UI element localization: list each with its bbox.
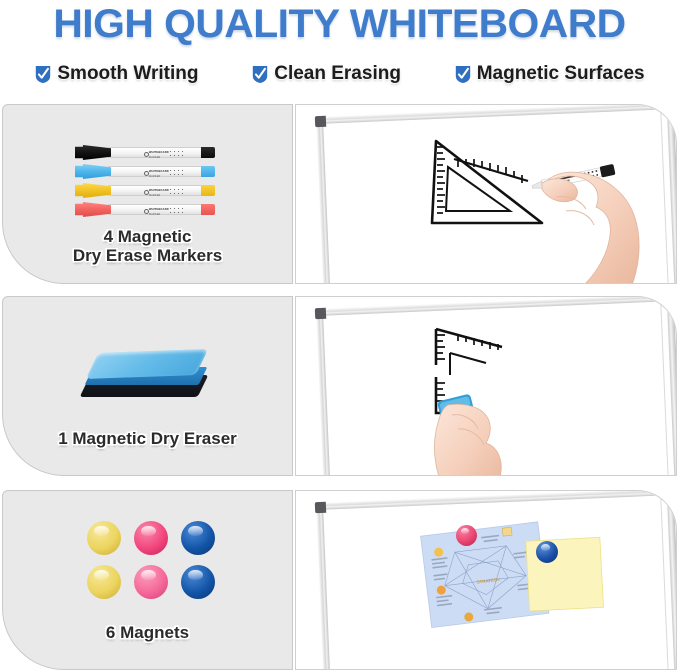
marker-cap bbox=[201, 185, 215, 196]
scene-panel-erasing bbox=[295, 296, 677, 476]
magnet-item bbox=[87, 521, 121, 555]
marker-item: WHITEBOARD MARKER bbox=[75, 145, 225, 160]
whiteboard-corner-bracket bbox=[315, 116, 326, 127]
marker-dots-icon bbox=[170, 189, 186, 197]
magnet-item bbox=[87, 565, 121, 599]
marker-group: WHITEBOARD MARKER WHITEBOARD MAR bbox=[75, 145, 225, 217]
check-shield-icon bbox=[34, 65, 52, 84]
caption-line-1: 6 Magnets bbox=[3, 623, 292, 642]
marker-sublabel: MARKER bbox=[149, 194, 160, 197]
whiteboard bbox=[296, 105, 677, 284]
marker-dots-icon bbox=[170, 170, 186, 178]
whiteboard-corner-bracket bbox=[315, 308, 326, 319]
marker-sublabel: MARKER bbox=[149, 175, 160, 178]
feature-row-magnets: 6 Magnets bbox=[0, 490, 679, 670]
page-title: HIGH QUALITY WHITEBOARD bbox=[0, 2, 679, 47]
marker-grip bbox=[75, 145, 111, 160]
magnet-item bbox=[181, 521, 215, 555]
marker-cap bbox=[201, 204, 215, 215]
marker-label: WHITEBOARD bbox=[149, 208, 169, 211]
magnet-on-board-pink bbox=[456, 525, 477, 546]
eraser-top bbox=[86, 349, 209, 379]
magnetic-eraser bbox=[79, 349, 211, 403]
marker-label: WHITEBOARD bbox=[149, 151, 169, 154]
feature-row-eraser: 1 Magnetic Dry Eraser bbox=[0, 296, 679, 476]
product-panel-markers: WHITEBOARD MARKER WHITEBOARD MAR bbox=[2, 104, 293, 284]
marker-dots-icon bbox=[170, 208, 186, 216]
feature-label: Clean Erasing bbox=[274, 63, 401, 85]
hand-holding-eraser bbox=[430, 403, 560, 476]
marker-sublabel: MARKER bbox=[149, 156, 160, 159]
hand-holding-marker bbox=[536, 167, 677, 284]
feature-item-magnetic-surfaces: Magnetic Surfaces bbox=[454, 63, 645, 85]
marker-cap bbox=[201, 147, 215, 158]
marker-label: WHITEBOARD bbox=[149, 189, 169, 192]
scene-panel-writing bbox=[295, 104, 677, 284]
magnet-item bbox=[134, 565, 168, 599]
caption-line-2: Dry Erase Markers bbox=[3, 246, 292, 265]
marker-dots-icon bbox=[170, 151, 186, 159]
marker-grip bbox=[75, 202, 111, 217]
check-shield-icon bbox=[251, 65, 269, 84]
magnet-group bbox=[87, 521, 215, 599]
marker-sublabel: MARKER bbox=[149, 213, 160, 216]
product-caption: 1 Magnetic Dry Eraser bbox=[3, 429, 292, 448]
marker-cap bbox=[201, 166, 215, 177]
magnet-on-board-blue bbox=[536, 541, 558, 563]
marker-item: WHITEBOARD MARKER bbox=[75, 183, 225, 198]
caption-line-1: 1 Magnetic Dry Eraser bbox=[3, 429, 292, 448]
product-caption: 6 Magnets bbox=[3, 623, 292, 642]
product-caption: 4 Magnetic Dry Erase Markers bbox=[3, 227, 292, 265]
marker-item: WHITEBOARD MARKER bbox=[75, 164, 225, 179]
marker-barrel: WHITEBOARD MARKER bbox=[108, 185, 203, 196]
product-panel-magnets: 6 Magnets bbox=[2, 490, 293, 670]
whiteboard: STRATEGY bbox=[296, 491, 677, 670]
feature-list: Smooth Writing Clean Erasing bbox=[0, 58, 679, 90]
feature-row-markers: WHITEBOARD MARKER WHITEBOARD MAR bbox=[0, 104, 679, 284]
marker-barrel: WHITEBOARD MARKER bbox=[108, 147, 203, 158]
product-panel-eraser: 1 Magnetic Dry Eraser bbox=[2, 296, 293, 476]
marker-barrel: WHITEBOARD MARKER bbox=[108, 166, 203, 177]
marker-barrel: WHITEBOARD MARKER bbox=[108, 204, 203, 215]
feature-label: Magnetic Surfaces bbox=[477, 63, 645, 85]
marker-label: WHITEBOARD bbox=[149, 170, 169, 173]
marker-grip bbox=[75, 164, 111, 179]
feature-label: Smooth Writing bbox=[57, 63, 198, 85]
product-feature-image: HIGH QUALITY WHITEBOARD Smooth Writing bbox=[0, 0, 679, 672]
feature-item-smooth-writing: Smooth Writing bbox=[34, 63, 198, 85]
whiteboard bbox=[296, 297, 677, 476]
caption-line-1: 4 Magnetic bbox=[3, 227, 292, 246]
header: HIGH QUALITY WHITEBOARD Smooth Writing bbox=[0, 0, 679, 96]
check-shield-icon bbox=[454, 65, 472, 84]
magnet-item bbox=[134, 521, 168, 555]
feature-item-clean-erasing: Clean Erasing bbox=[251, 63, 401, 85]
scene-panel-magnets: STRATEGY bbox=[295, 490, 677, 670]
magnet-item bbox=[181, 565, 215, 599]
marker-item: WHITEBOARD MARKER bbox=[75, 202, 225, 217]
whiteboard-corner-bracket bbox=[315, 502, 326, 513]
marker-grip bbox=[75, 183, 111, 198]
